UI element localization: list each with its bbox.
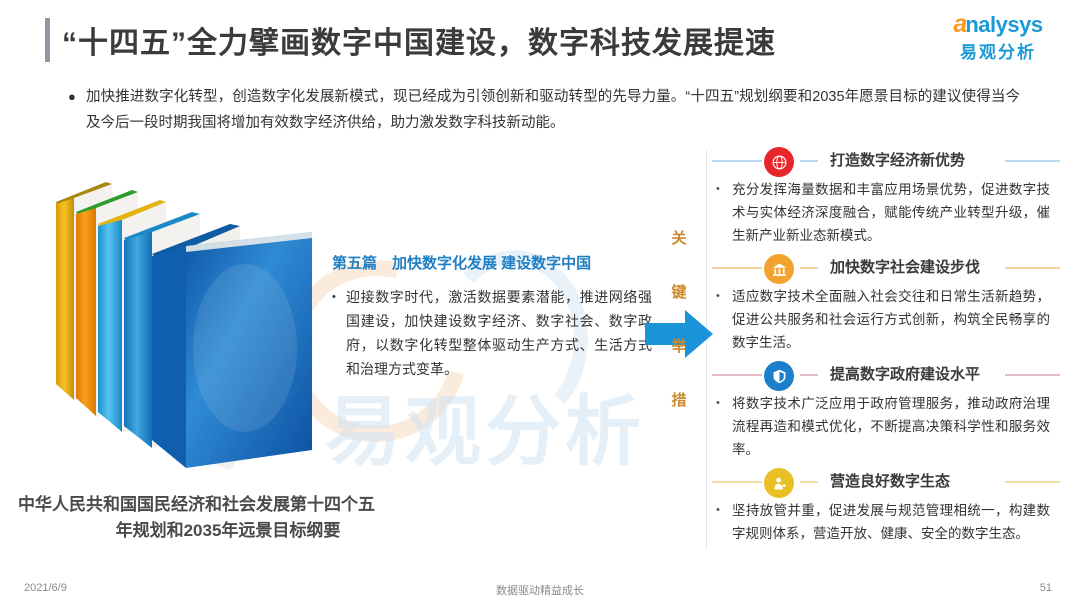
middle-heading: 第五篇 加快数字化发展 建设数字中国: [332, 252, 652, 273]
section-2-bullet: •: [716, 285, 732, 354]
intro-bullet: ●: [68, 84, 86, 136]
slide-root: 易观分析 “十四五”全力擘画数字中国建设，数字科技发展提速 a nalysys …: [0, 0, 1080, 608]
books-illustration: [40, 168, 330, 478]
section-3-header: 提高数字政府建设水平: [712, 358, 1062, 392]
section-1-header: 打造数字经济新优势: [712, 144, 1062, 178]
section-2-line-right: [1005, 267, 1060, 269]
measure-section-1: 打造数字经济新优势 • 充分发挥海量数据和丰富应用场景优势，促进数字技术与实体经…: [712, 144, 1062, 247]
section-1-line-right: [1005, 160, 1060, 162]
section-4-header: 营造良好数字生态: [712, 465, 1062, 499]
section-2-line-left: [712, 267, 762, 269]
middle-bullet: •: [332, 285, 346, 381]
section-1-bullet: •: [716, 178, 732, 247]
intro-text: 加快推进数字化转型，创造数字化发展新模式，现已经成为引领创新和驱动转型的先导力量…: [86, 84, 1020, 136]
section-2-line-mid: [800, 267, 818, 269]
section-4-line-right: [1005, 481, 1060, 483]
vlabel-char-2: 举: [668, 320, 690, 374]
watermark-text: 易观分析: [325, 370, 645, 480]
slide-footer: 2021/6/9 数据驱动精益成长 51: [0, 574, 1080, 608]
intro-paragraph: ● 加快推进数字化转型，创造数字化发展新模式，现已经成为引领创新和驱动转型的先导…: [68, 84, 1020, 136]
middle-block: 第五篇 加快数字化发展 建设数字中国 • 迎接数字时代，激活数据要素潜能，推进网…: [332, 252, 652, 381]
vlabel-char-0: 关: [668, 212, 690, 266]
shield-icon: [764, 361, 794, 391]
section-1-title: 打造数字经济新优势: [830, 144, 965, 178]
section-4-line-mid: [800, 481, 818, 483]
vertical-label-key-measures: 关 键 举 措: [668, 212, 690, 428]
books-caption-line2: 年规划和2035年远景目标纲要: [18, 518, 438, 544]
measure-section-4: 营造良好数字生态 • 坚持放管并重，促进发展与规范管理相统一，构建数字规则体系，…: [712, 465, 1062, 545]
person-idea-icon: [764, 468, 794, 498]
footer-slogan: 数据驱动精益成长: [0, 582, 1080, 598]
footer-page-number: 51: [1040, 582, 1052, 594]
measure-section-3: 提高数字政府建设水平 • 将数字技术广泛应用于政府管理服务，推动政府治理流程再造…: [712, 358, 1062, 461]
logo-chinese: 易观分析: [938, 38, 1058, 63]
bank-icon: [764, 254, 794, 284]
section-1-text: 充分发挥海量数据和丰富应用场景优势，促进数字技术与实体经济深度融合，赋能传统产业…: [732, 178, 1050, 247]
measure-section-2: 加快数字社会建设步伐 • 适应数字技术全面融入社会交往和日常生活新趋势，促进公共…: [712, 251, 1062, 354]
section-3-bullet: •: [716, 392, 732, 461]
middle-text: 迎接数字时代，激活数据要素潜能，推进网络强国建设，加快建设数字经济、数字社会、数…: [346, 285, 652, 381]
section-2-text: 适应数字技术全面融入社会交往和日常生活新趋势，促进公共服务和社会运行方式创新，构…: [732, 285, 1050, 354]
section-3-line-right: [1005, 374, 1060, 376]
books-svg: [40, 168, 330, 478]
section-1-line-mid: [800, 160, 818, 162]
books-caption: 中华人民共和国国民经济和社会发展第十四个五 年规划和2035年远景目标纲要: [18, 492, 438, 544]
measures-column: 打造数字经济新优势 • 充分发挥海量数据和丰富应用场景优势，促进数字技术与实体经…: [712, 144, 1062, 549]
globe-icon: [764, 147, 794, 177]
page-title: “十四五”全力擘画数字中国建设，数字科技发展提速: [62, 18, 776, 62]
section-4-line-left: [712, 481, 762, 483]
section-4-title: 营造良好数字生态: [830, 465, 950, 499]
section-3-line-mid: [800, 374, 818, 376]
title-accent-bar: [45, 18, 50, 62]
vlabel-char-3: 措: [668, 374, 690, 428]
section-3-line-left: [712, 374, 762, 376]
logo-wordmark: nalysys: [965, 14, 1042, 36]
section-2-title: 加快数字社会建设步伐: [830, 251, 980, 285]
globe-icon-svg: [771, 154, 788, 171]
section-4-text: 坚持放管并重，促进发展与规范管理相统一，构建数字规则体系，营造开放、健康、安全的…: [732, 499, 1050, 545]
person-idea-icon-svg: [771, 475, 788, 492]
analysys-logo: a nalysys 易观分析: [938, 12, 1058, 63]
vlabel-char-1: 键: [668, 266, 690, 320]
books-caption-line1: 中华人民共和国国民经济和社会发展第十四个五: [18, 492, 438, 518]
bank-icon-svg: [771, 261, 788, 278]
section-2-header: 加快数字社会建设步伐: [712, 251, 1062, 285]
section-4-bullet: •: [716, 499, 732, 545]
section-3-title: 提高数字政府建设水平: [830, 358, 980, 392]
section-1-line-left: [712, 160, 762, 162]
section-3-text: 将数字技术广泛应用于政府管理服务，推动政府治理流程再造和模式优化，不断提高决策科…: [732, 392, 1050, 461]
shield-icon-svg: [771, 368, 788, 385]
